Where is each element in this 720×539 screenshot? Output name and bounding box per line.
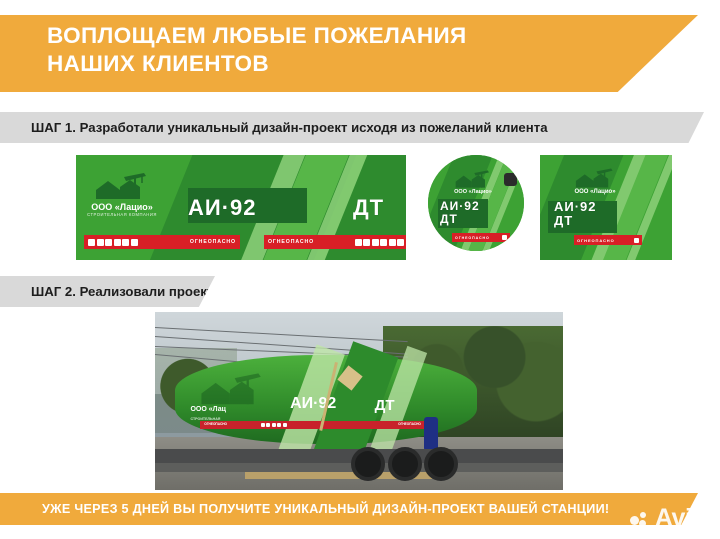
hazard-text: ОГНЕОПАСНО (455, 236, 490, 240)
tank-logo-sub: СТРОИТЕЛЬНАЯ (190, 417, 220, 421)
hazard-strip: ОГНЕОПАСНО (574, 235, 642, 245)
tank-logo-name: ООО «Лац (190, 406, 225, 413)
fuel-label-dt: ДТ (554, 213, 573, 228)
hazard-pictograms-right (355, 239, 405, 246)
photo-wheel-2 (388, 447, 422, 481)
design-mockups-row: ООО «Лацио» СТРОИТЕЛЬНАЯ КОМПАНИЯ АИ·92 … (0, 155, 720, 260)
fuel-label-dt: ДТ (440, 212, 458, 226)
step-2-bar: ШАГ 2. Реализовали проект (0, 276, 215, 307)
avito-dots-icon (630, 509, 652, 529)
step-1-label: ШАГ 1. Разработали уникальный дизайн-про… (31, 112, 548, 143)
mockup-round-panel: ООО «Лацио» АИ·92 ДТ ОГНЕОПАСНО (428, 155, 524, 251)
construction-icon (571, 167, 619, 189)
tank-hazard-pictograms (261, 423, 287, 427)
photo-worker (424, 417, 438, 451)
tank-hazard-text-right: ОГНЕОПАСНО (398, 422, 421, 426)
hazard-strip-right: ОГНЕОПАСНО (264, 235, 406, 249)
hazard-strip-left: ОГНЕОПАСНО (84, 235, 240, 249)
photo-wheel-1 (351, 447, 385, 481)
tank-hazard-strip: ОГНЕОПАСНО ОГНЕОПАСНО (200, 421, 435, 429)
step-1-bar: ШАГ 1. Разработали уникальный дизайн-про… (0, 112, 704, 143)
hazard-pictograms (502, 235, 507, 240)
tank-hazard-text-left: ОГНЕОПАСНО (204, 422, 227, 426)
construction-icon (94, 171, 150, 201)
hazard-strip: ОГНЕОПАСНО (452, 233, 510, 242)
slide-root: ВОПЛОЩАЕМ ЛЮБЫЕ ПОЖЕЛАНИЯ НАШИХ КЛИЕНТОВ… (0, 0, 720, 539)
project-photo: ООО «Лац СТРОИТЕЛЬНАЯ АИ·92 ДТ ОГНЕОПАСН… (155, 312, 563, 490)
hazard-text-right: ОГНЕОПАСНО (268, 239, 314, 245)
avito-watermark: Avito (630, 506, 714, 531)
fuel-label-ai92: АИ·92 (440, 199, 480, 213)
flammable-badge-icon (504, 173, 517, 186)
tank-fuel-dt: ДТ (375, 397, 395, 414)
tank-logo-icon (187, 371, 278, 407)
hazard-text: ОГНЕОПАСНО (577, 238, 615, 243)
page-title: ВОПЛОЩАЕМ ЛЮБЫЕ ПОЖЕЛАНИЯ НАШИХ КЛИЕНТОВ (47, 22, 607, 78)
footer-cta-text: УЖЕ ЧЕРЕЗ 5 ДНЕЙ ВЫ ПОЛУЧИТЕ УНИКАЛЬНЫЙ … (42, 493, 609, 525)
fuel-label-ai92: АИ·92 (554, 199, 597, 214)
company-logo: ООО «Лацио» (442, 169, 504, 195)
hazard-pictograms (634, 238, 639, 243)
construction-icon (452, 169, 494, 189)
hazard-pictograms-left (88, 239, 138, 246)
company-logo: ООО «Лацио» (558, 167, 632, 195)
avito-wordmark: Avito (655, 506, 714, 531)
mockup-small-panel: ООО «Лацио» АИ·92 ДТ ОГНЕОПАСНО (540, 155, 672, 260)
logo-name: ООО «Лацио» (558, 189, 632, 195)
logo-name: ООО «Лацио» (82, 202, 162, 212)
fuel-label-ai92: АИ·92 (188, 195, 257, 221)
fuel-label-dt: ДТ (353, 195, 384, 221)
logo-subtitle: СТРОИТЕЛЬНАЯ КОМПАНИЯ (82, 212, 162, 217)
company-logo: ООО «Лацио» СТРОИТЕЛЬНАЯ КОМПАНИЯ (82, 171, 162, 217)
step-2-label: ШАГ 2. Реализовали проект (31, 276, 213, 307)
logo-name: ООО «Лацио» (442, 189, 504, 195)
hazard-text-left: ОГНЕОПАСНО (190, 239, 236, 245)
mockup-wide-panel: ООО «Лацио» СТРОИТЕЛЬНАЯ КОМПАНИЯ АИ·92 … (76, 155, 406, 260)
